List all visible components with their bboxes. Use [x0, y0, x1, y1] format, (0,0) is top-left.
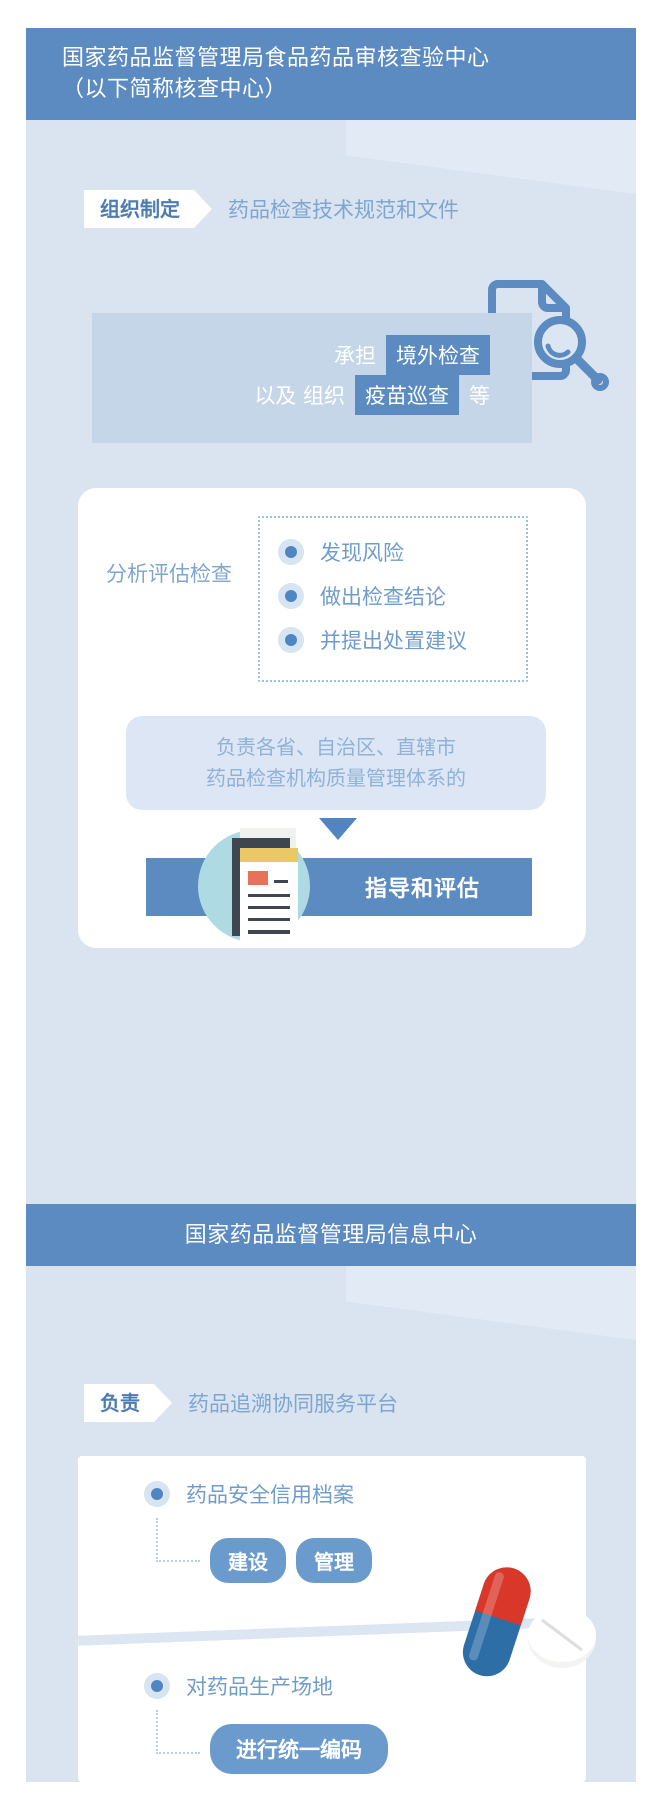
analyze-item-0: 发现风险: [278, 530, 526, 574]
analyze-item-label-0: 发现风险: [320, 537, 404, 567]
province-line-1: 药品检查机构质量管理体系的: [206, 763, 466, 794]
info-block-1-title-row: 对药品生产场地: [144, 1664, 544, 1708]
guidance-label: 指导和评估: [365, 871, 480, 903]
panel-suffix-vaccine: 等: [469, 380, 490, 410]
panel-prefix-undertake: 承担: [334, 340, 376, 370]
analyze-item-label-2: 并提出处置建议: [320, 625, 467, 655]
caret-down-icon: [319, 818, 357, 840]
province-line-0: 负责各省、自治区、直辖市: [216, 732, 456, 763]
analyze-label: 分析评估检查: [106, 558, 232, 588]
elbow-connector: [156, 1710, 200, 1754]
tag-text-responsible: 药品追溯协同服务平台: [188, 1388, 398, 1418]
tag-label-organize[interactable]: 组织制定: [84, 190, 194, 228]
section-header-1: 国家药品监督管理局食品药品审核查验中心 （以下简称核查中心）: [26, 28, 636, 120]
radio-icon: [278, 539, 304, 565]
radio-icon: [278, 627, 304, 653]
pill-construct[interactable]: 建设: [210, 1538, 286, 1583]
chip-vaccine-patrol[interactable]: 疫苗巡查: [355, 375, 459, 415]
elbow-connector: [156, 1518, 200, 1562]
info-block-0-title: 药品安全信用档案: [186, 1479, 354, 1509]
panel-prefix-vaccine: 以及 组织: [254, 380, 345, 410]
analyze-item-2: 并提出处置建议: [278, 618, 526, 662]
overseas-inspection-panel: 承担 境外检查 以及 组织 疫苗巡查 等: [92, 313, 532, 443]
radio-icon: [144, 1673, 170, 1699]
panel-line-vaccine: 以及 组织 疫苗巡查 等: [92, 375, 490, 415]
section-header-1-line-2: （以下简称核查中心）: [62, 74, 636, 105]
radio-icon: [278, 583, 304, 609]
tag-label-responsible[interactable]: 负责: [84, 1384, 154, 1422]
header-ribbon-1: [346, 120, 636, 194]
tag-text-organize: 药品检查技术规范和文件: [228, 194, 459, 224]
analyze-dotted-box: 发现风险 做出检查结论 并提出处置建议: [258, 516, 528, 682]
pill-manage[interactable]: 管理: [296, 1538, 372, 1583]
radio-icon: [144, 1481, 170, 1507]
document-stack-icon: [214, 826, 324, 956]
section-header-2-line-1: 国家药品监督管理局信息中心: [185, 1220, 478, 1251]
panel-line-undertake: 承担 境外检查: [92, 335, 490, 375]
section-header-2: 国家药品监督管理局信息中心: [26, 1204, 636, 1266]
analyze-item-1: 做出检查结论: [278, 574, 526, 618]
infographic-page: 国家药品监督管理局食品药品审核查验中心 （以下简称核查中心） 组织制定 药品检查…: [26, 28, 636, 1782]
section-header-1-line-1: 国家药品监督管理局食品药品审核查验中心: [62, 43, 636, 74]
analyze-item-label-1: 做出检查结论: [320, 581, 446, 611]
info-block-0-title-row: 药品安全信用档案: [144, 1472, 544, 1516]
info-block-1: 对药品生产场地 进行统一编码: [144, 1664, 544, 1772]
tag-row-organize: 组织制定 药品检查技术规范和文件: [84, 190, 459, 228]
province-responsibility-box: 负责各省、自治区、直辖市 药品检查机构质量管理体系的: [126, 716, 546, 810]
tag-row-responsible: 负责 药品追溯协同服务平台: [84, 1384, 398, 1422]
pill-unified-coding[interactable]: 进行统一编码: [210, 1724, 388, 1774]
header-ribbon-2: [346, 1266, 636, 1340]
info-block-1-title: 对药品生产场地: [186, 1671, 333, 1701]
chip-overseas-inspection[interactable]: 境外检查: [386, 335, 490, 375]
